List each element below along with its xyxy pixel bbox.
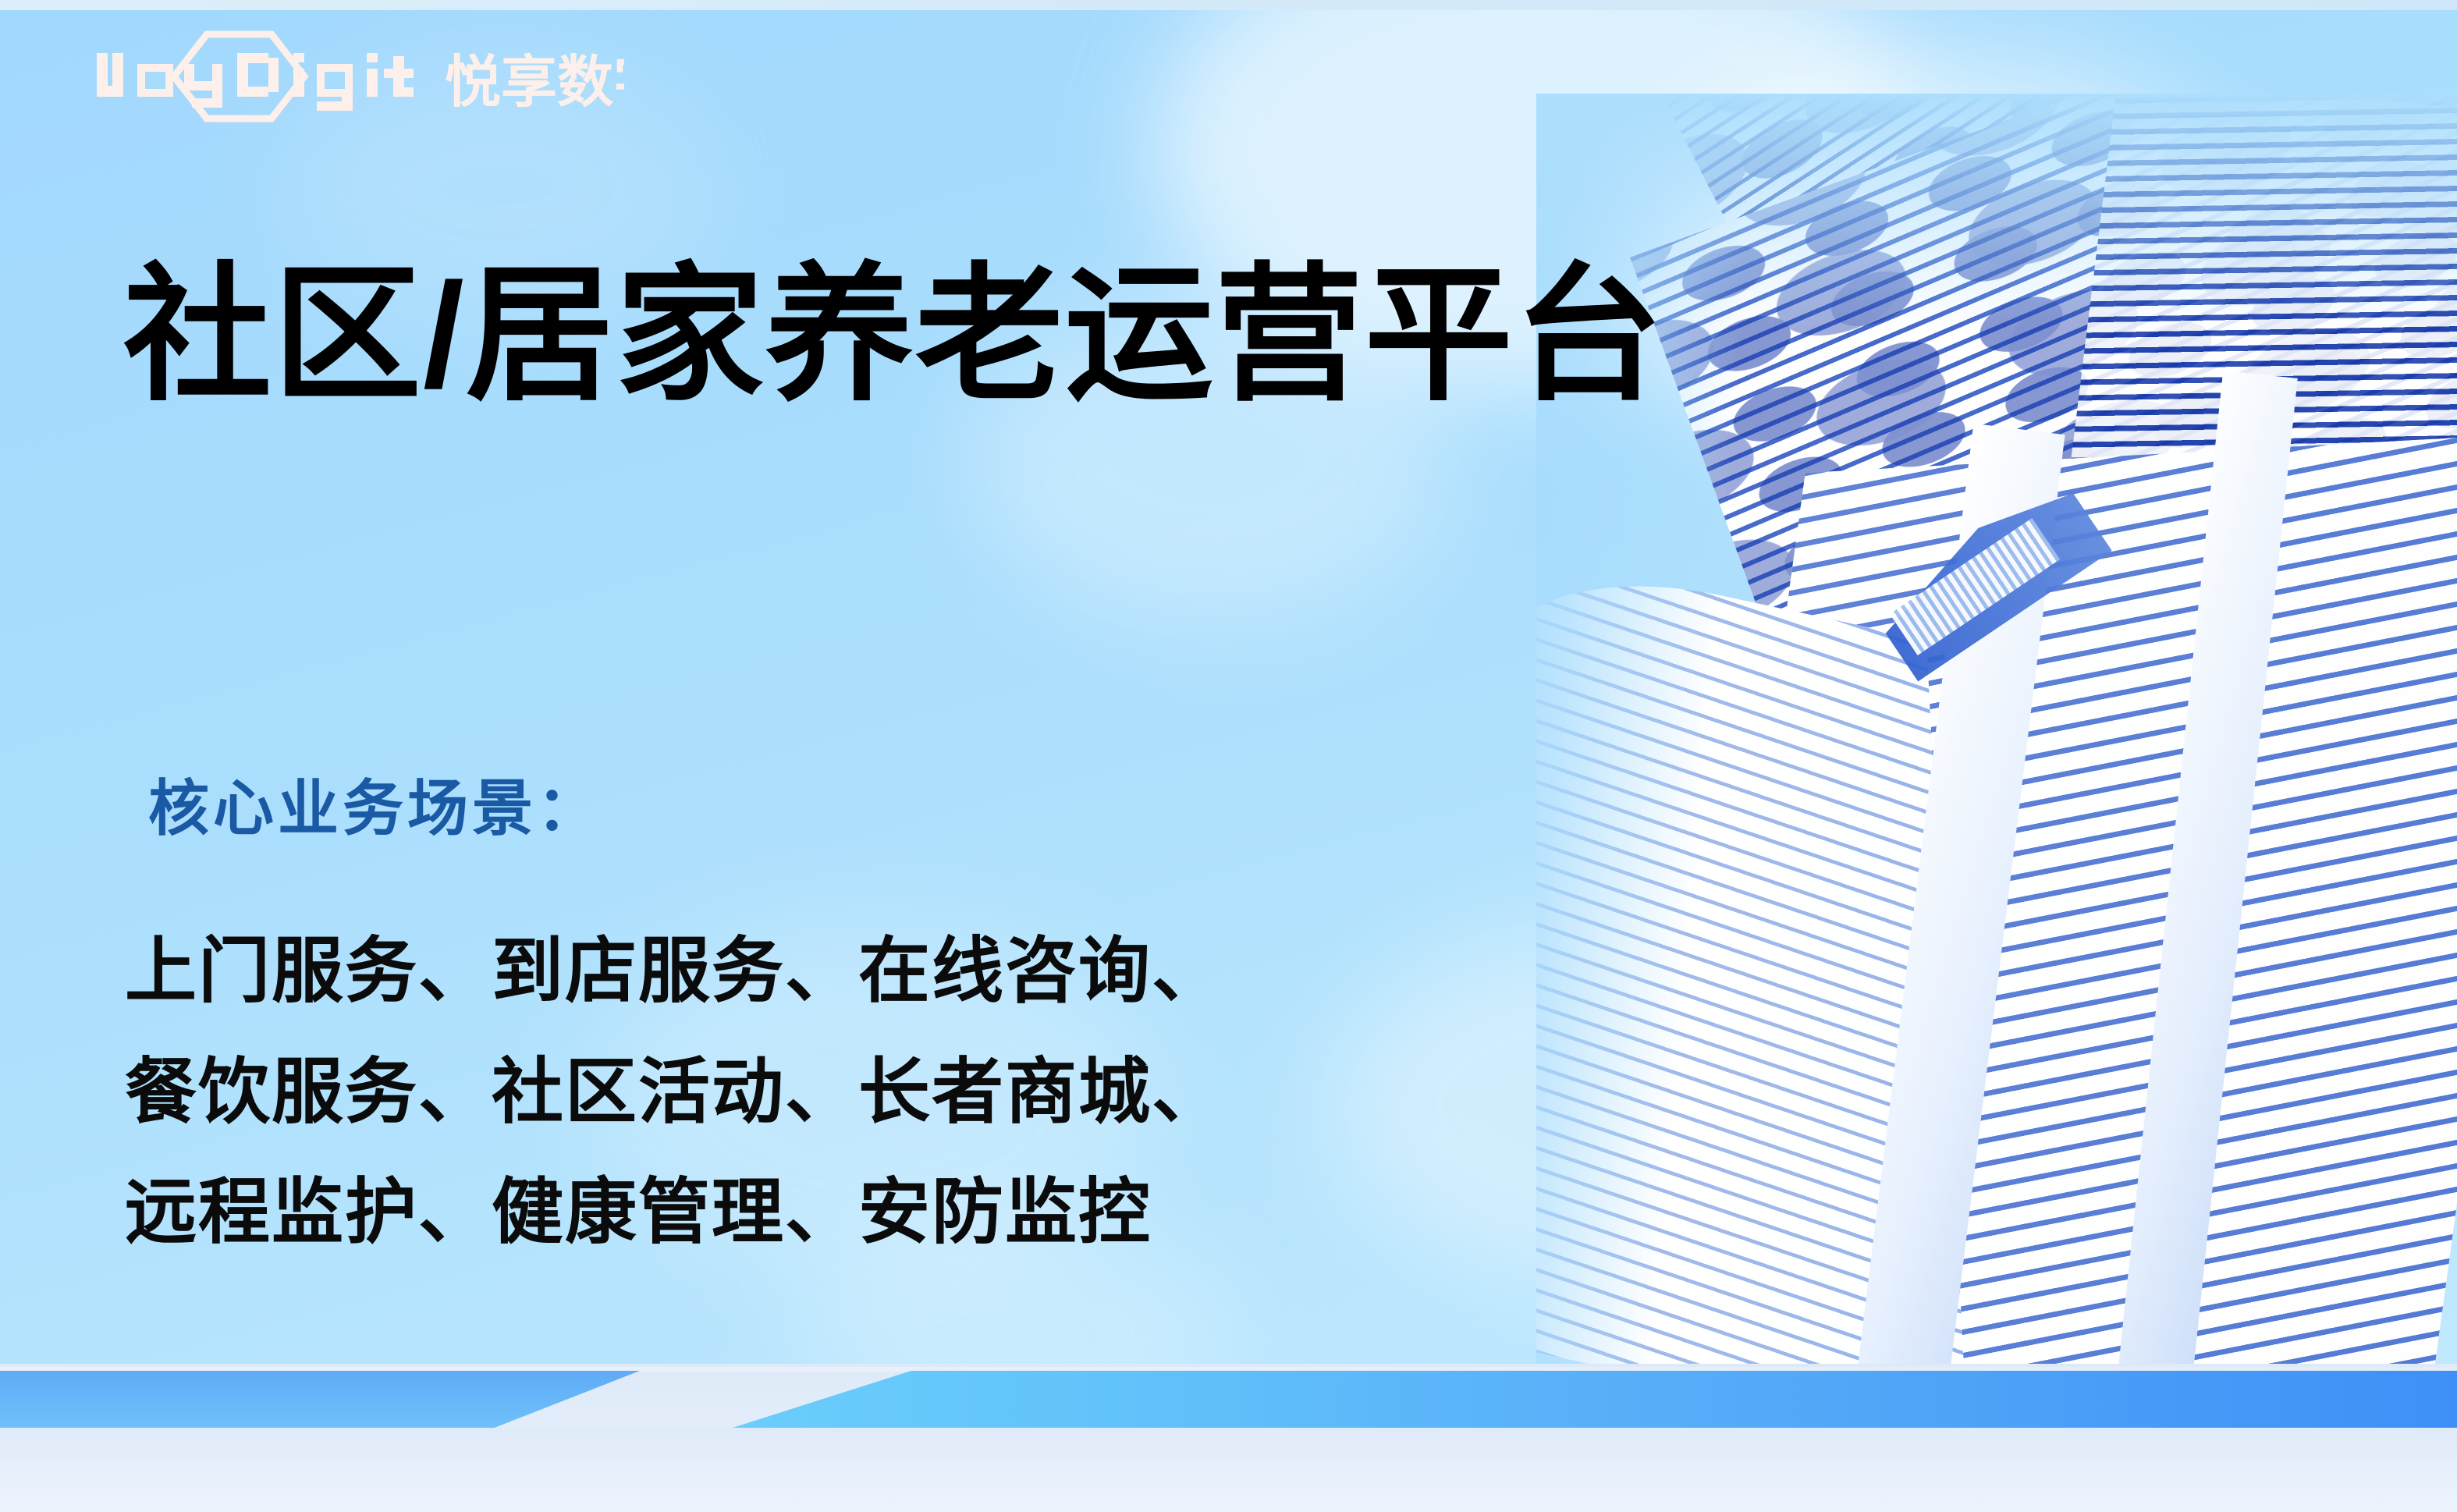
bottom-band-fill [0,1428,2457,1512]
page-title: 社区/居家养老运营平台 [123,248,1664,423]
building-photo [1536,94,2457,1373]
scenario-line-2: 餐饮服务、社区活动、长者商城、 [125,1032,1225,1153]
top-edge-strip [0,0,2457,10]
brand-logo[interactable]: 悦享数字 [78,33,624,120]
photo-top-fade [1536,94,2457,328]
scenario-line-1: 上门服务、到店服务、在线咨询、 [125,911,1225,1032]
slide-root: 悦享数字 社区/居家养老运营平台 核心业务场景： 上门服务、到店服务、在线咨询、… [0,0,2457,1512]
logo-cn-text: 悦享数字 [445,51,624,114]
joydigit-logo-icon: 悦享数字 [78,30,624,123]
scenario-line-3: 远程监护、健康管理、安防监控 [125,1152,1225,1273]
section-subheading: 核心业务场景： [148,772,602,846]
scenario-list: 上门服务、到店服务、在线咨询、 餐饮服务、社区活动、长者商城、 远程监护、健康管… [125,911,1225,1273]
